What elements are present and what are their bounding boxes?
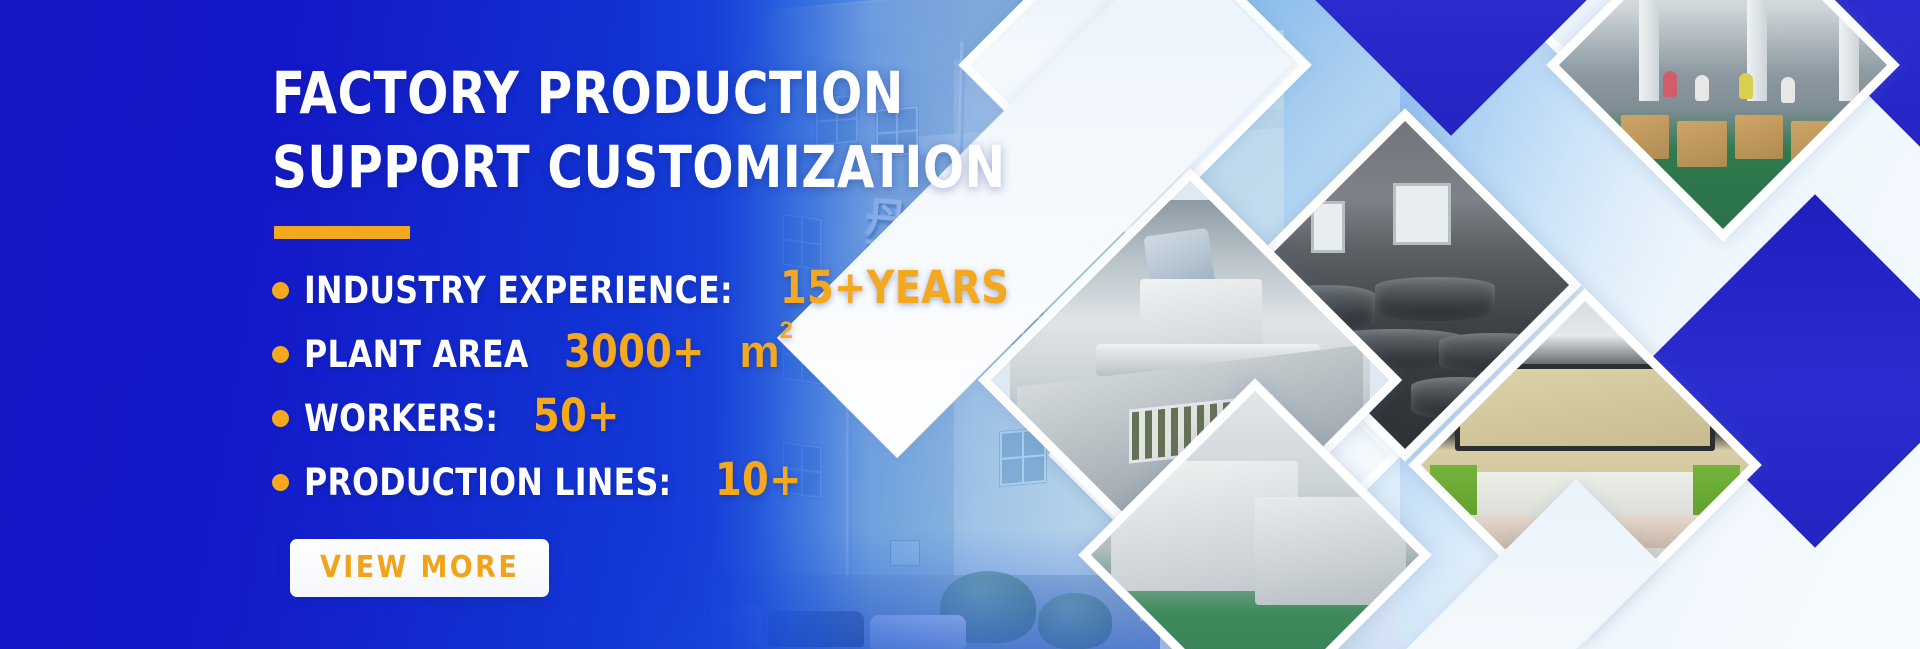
fact-unit: m2: [740, 326, 793, 378]
facts-list: INDUSTRY EXPERIENCE: 15+YEARS PLANT AREA…: [272, 261, 1032, 506]
fact-label: PLANT AREA: [304, 333, 529, 376]
bullet-dot-icon: [272, 346, 289, 363]
bullet-dot-icon: [272, 410, 289, 427]
page-title: FACTORY PRODUCTION SUPPORT CUSTOMIZATION: [272, 56, 979, 204]
fact-value: 50+: [533, 389, 620, 442]
headline-line-1: FACTORY PRODUCTION: [272, 56, 979, 130]
list-item: INDUSTRY EXPERIENCE: 15+YEARS: [272, 261, 1032, 314]
view-more-button[interactable]: VIEW MORE: [290, 539, 549, 597]
fact-unit-base: m: [740, 326, 780, 377]
banner-content: FACTORY PRODUCTION SUPPORT CUSTOMIZATION…: [272, 0, 1032, 649]
bullet-dot-icon: [272, 282, 289, 299]
fact-value: 3000+: [564, 325, 705, 378]
bullet-dot-icon: [272, 474, 289, 491]
list-item: WORKERS: 50+: [272, 389, 1032, 442]
fact-label: INDUSTRY EXPERIENCE:: [304, 269, 733, 312]
photo-collage: [1160, 0, 1920, 649]
fact-value: 15+YEARS: [780, 261, 1009, 314]
fact-value: 10+: [715, 453, 802, 506]
list-item: PRODUCTION LINES: 10+: [272, 453, 1032, 506]
fact-unit-exponent: 2: [780, 317, 793, 344]
list-item: PLANT AREA 3000+ m2: [272, 325, 1032, 378]
fact-label: PRODUCTION LINES:: [304, 461, 671, 504]
headline-line-2: SUPPORT CUSTOMIZATION: [272, 130, 979, 204]
accent-rule: [274, 226, 410, 239]
factory-promo-banner: 丹夏智造: [0, 0, 1920, 649]
fact-label: WORKERS:: [304, 397, 498, 440]
